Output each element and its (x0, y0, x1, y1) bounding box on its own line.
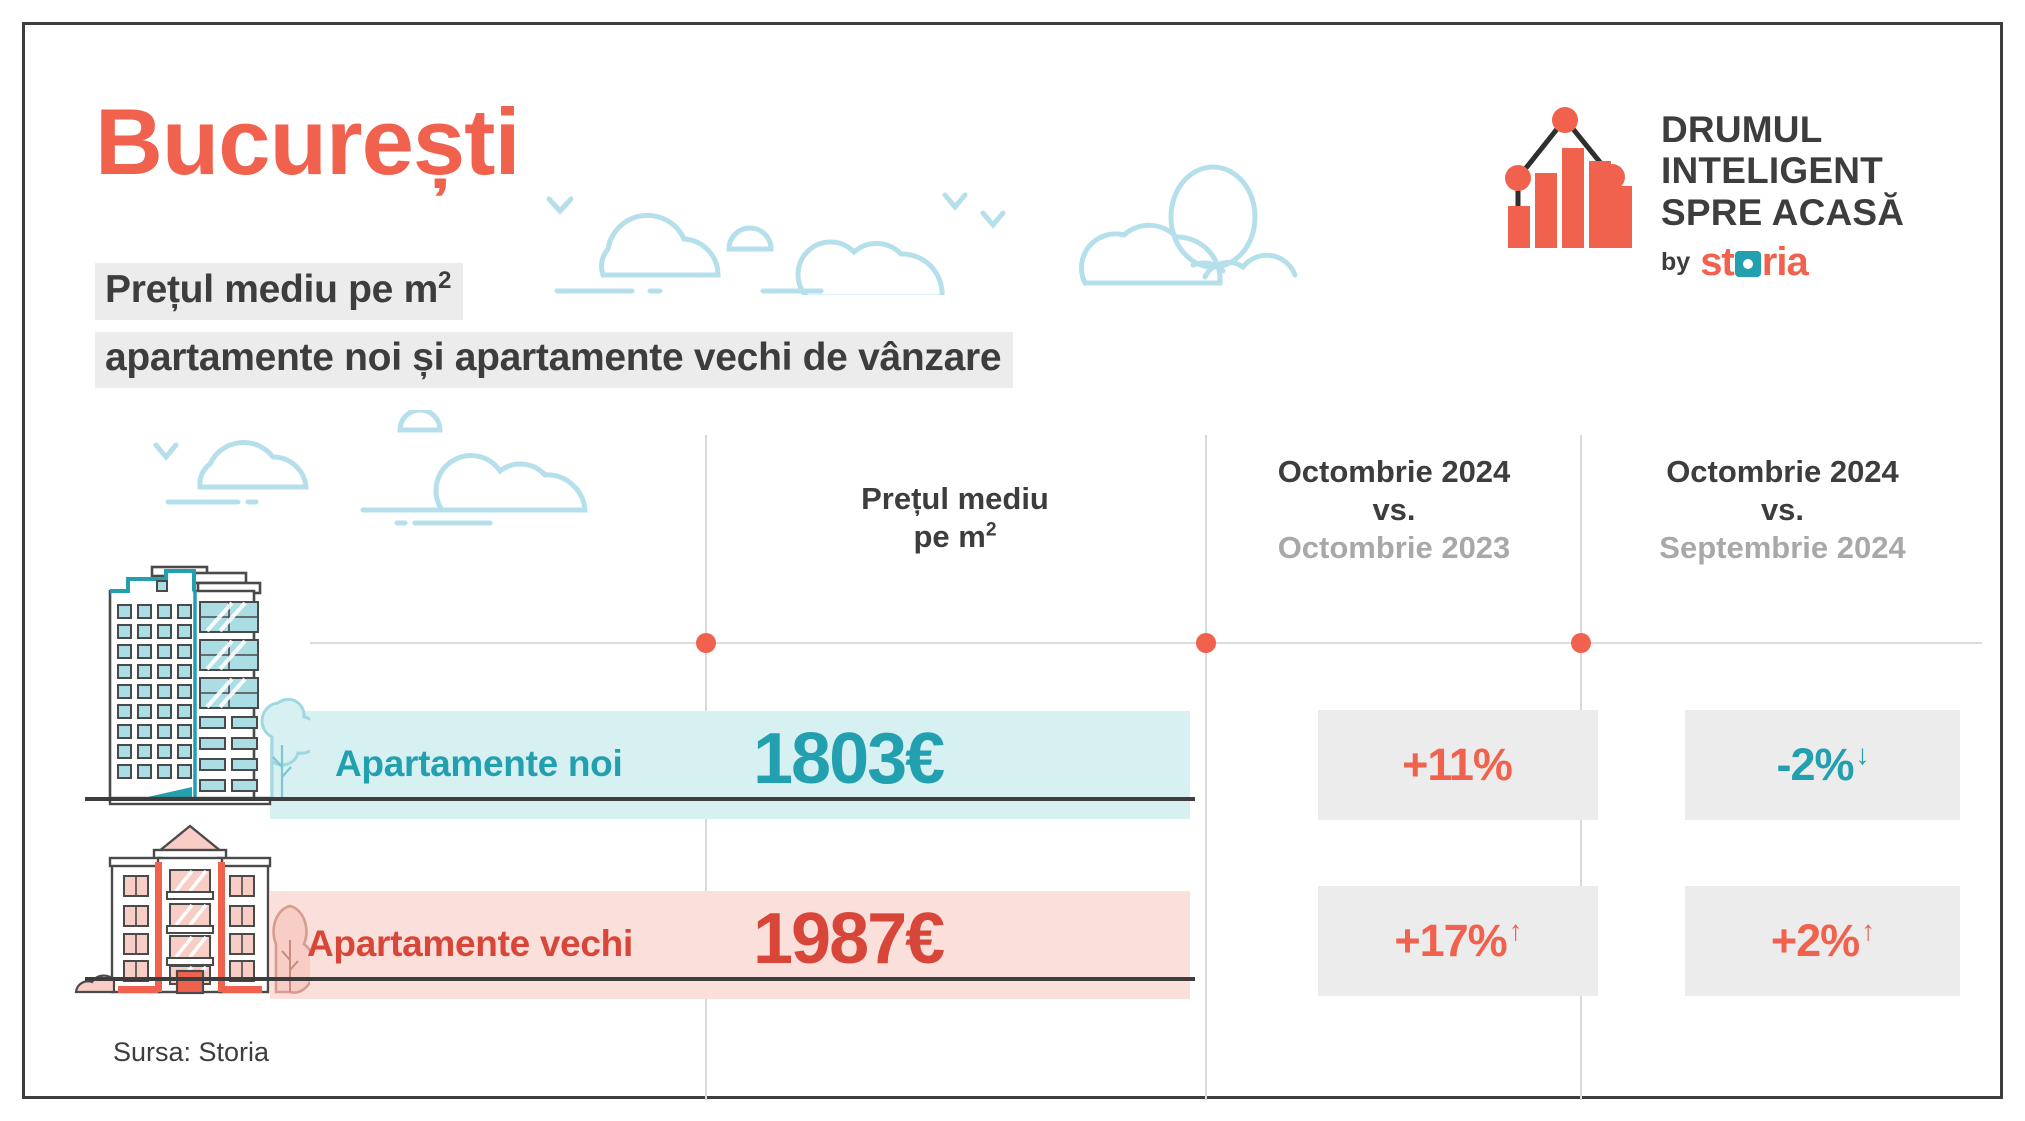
column-header-yoy: Octombrie 2024 vs. Octombrie 2023 (1210, 453, 1578, 566)
column-header-price-line-2-text: pe m (913, 519, 985, 554)
subtitle-line-1: Prețul mediu pe m2 (95, 263, 463, 320)
column-header-mom-line-1: Octombrie 2024 (1585, 453, 1980, 491)
logo-by-label: by (1661, 248, 1690, 277)
badge-mom-apartamente-noi: -2% ↓ (1685, 710, 1960, 820)
column-header-yoy-line-1: Octombrie 2024 (1210, 453, 1578, 491)
row-price-apartamente-noi: 1803€ (753, 718, 943, 800)
axis-dot-1 (696, 633, 716, 653)
badge-yoy-apartamente-vechi-arrow: ↑ (1509, 915, 1522, 947)
subtitle-line-2: apartamente noi și apartamente vechi de … (95, 332, 1013, 388)
page-title: București (95, 93, 520, 192)
row-label-apartamente-noi: Apartamente noi (335, 743, 622, 785)
subtitle-line-1-superscript: 2 (438, 267, 451, 294)
header-baseline (310, 642, 1982, 644)
badge-mom-apartamente-vechi-value: +2% (1771, 915, 1859, 967)
storia-text-part-1: st (1700, 240, 1734, 284)
badge-yoy-apartamente-vechi: +17% ↑ (1318, 886, 1598, 996)
column-header-yoy-line-2: vs. (1210, 491, 1578, 529)
logo-chart-house-icon (1505, 103, 1635, 248)
column-header-price-superscript: 2 (986, 519, 997, 540)
column-header-mom: Octombrie 2024 vs. Septembrie 2024 (1585, 453, 1980, 566)
badge-yoy-apartamente-noi: +11% (1318, 710, 1598, 820)
column-header-mom-line-3: Septembrie 2024 (1585, 529, 1980, 567)
badge-yoy-apartamente-vechi-value: +17% (1394, 915, 1506, 967)
ground-line-new (85, 797, 1195, 801)
sky-decoration-top (505, 95, 1505, 295)
badge-yoy-apartamente-noi-value: +11% (1402, 739, 1512, 791)
column-header-mom-line-2: vs. (1585, 491, 1980, 529)
column-header-price: Prețul mediu pe m2 (715, 480, 1195, 556)
column-divider-2 (1205, 435, 1207, 1100)
storia-o-square-icon (1735, 251, 1761, 277)
ground-line-old (85, 977, 1195, 981)
column-header-yoy-line-3: Octombrie 2023 (1210, 529, 1578, 567)
infographic-root: București Prețul mediu pe m2 apartamente… (0, 0, 2025, 1121)
badge-mom-apartamente-noi-arrow: ↓ (1856, 739, 1869, 771)
badge-mom-apartamente-noi-value: -2% (1776, 739, 1853, 791)
sky-decoration-table (110, 410, 670, 550)
logo-wordmark: DRUMUL INTELIGENT SPRE ACASĂ by st ria (1661, 103, 1904, 285)
source-note: Sursa: Storia (113, 1037, 269, 1068)
storia-text-part-2: ria (1762, 240, 1808, 284)
logo-byline: by st ria (1661, 240, 1904, 285)
subtitle-line-1-text: Prețul mediu pe m (105, 268, 438, 311)
badge-mom-apartamente-vechi-arrow: ↑ (1861, 915, 1874, 947)
axis-dot-3 (1571, 633, 1591, 653)
column-header-price-line-2: pe m2 (715, 518, 1195, 556)
page-frame: București Prețul mediu pe m2 apartamente… (22, 22, 2003, 1099)
brand-logo: DRUMUL INTELIGENT SPRE ACASĂ by st ria (1505, 103, 1904, 285)
logo-line-3: SPRE ACASĂ (1661, 192, 1904, 233)
illustration-new-building (70, 545, 310, 825)
badge-mom-apartamente-vechi: +2% ↑ (1685, 886, 1960, 996)
logo-line-2: INTELIGENT (1661, 150, 1904, 191)
logo-line-1: DRUMUL (1661, 109, 1904, 150)
row-label-apartamente-vechi: Apartamente vechi (307, 923, 633, 965)
axis-dot-2 (1196, 633, 1216, 653)
column-header-price-line-1: Prețul mediu (715, 480, 1195, 518)
row-price-apartamente-vechi: 1987€ (753, 898, 943, 980)
storia-brandmark: st ria (1700, 240, 1808, 285)
